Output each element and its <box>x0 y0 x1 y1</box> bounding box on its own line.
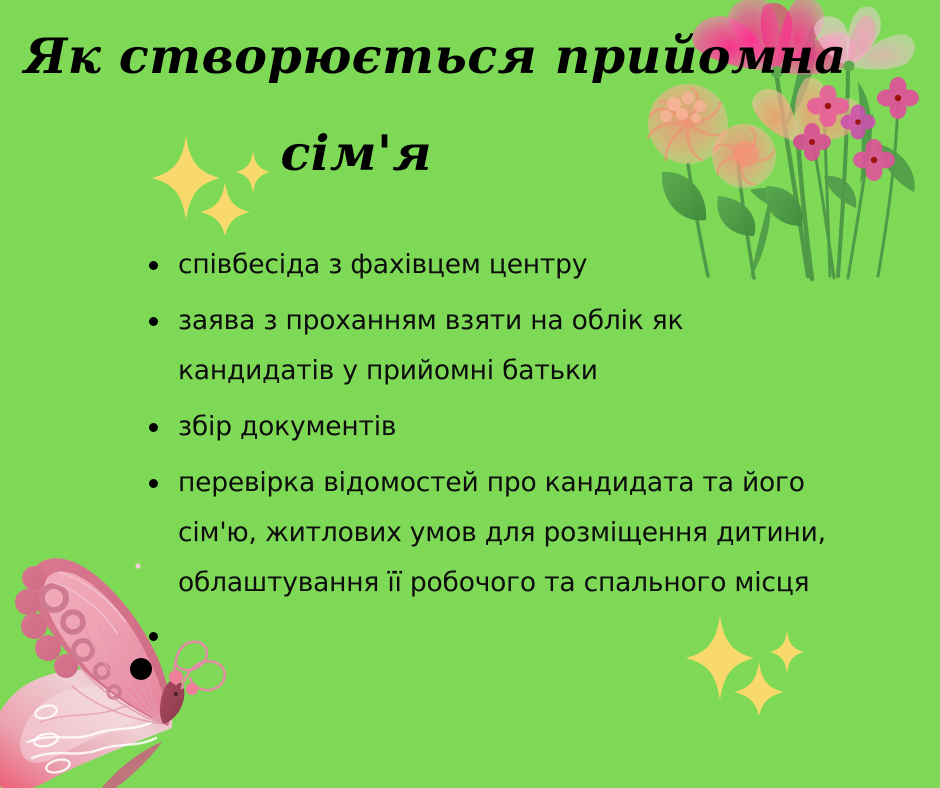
list-item: збір документів <box>140 402 840 452</box>
page-title: Як створюється прийомна сім'я <box>0 32 700 178</box>
list-item <box>140 614 840 660</box>
slide-canvas: Як створюється прийомна сім'я співбесіда… <box>0 0 940 788</box>
bullet-list: співбесіда з фахівцем центру заява з про… <box>140 240 840 660</box>
title-line-2: сім'я <box>0 129 700 178</box>
list-item: заява з проханням взяти на облік як канд… <box>140 296 840 396</box>
list-item: перевірка відомостей про кандидата та йо… <box>140 458 840 608</box>
list-item: співбесіда з фахівцем центру <box>140 240 840 290</box>
title-line-1: Як створюється прийомна <box>0 32 700 81</box>
